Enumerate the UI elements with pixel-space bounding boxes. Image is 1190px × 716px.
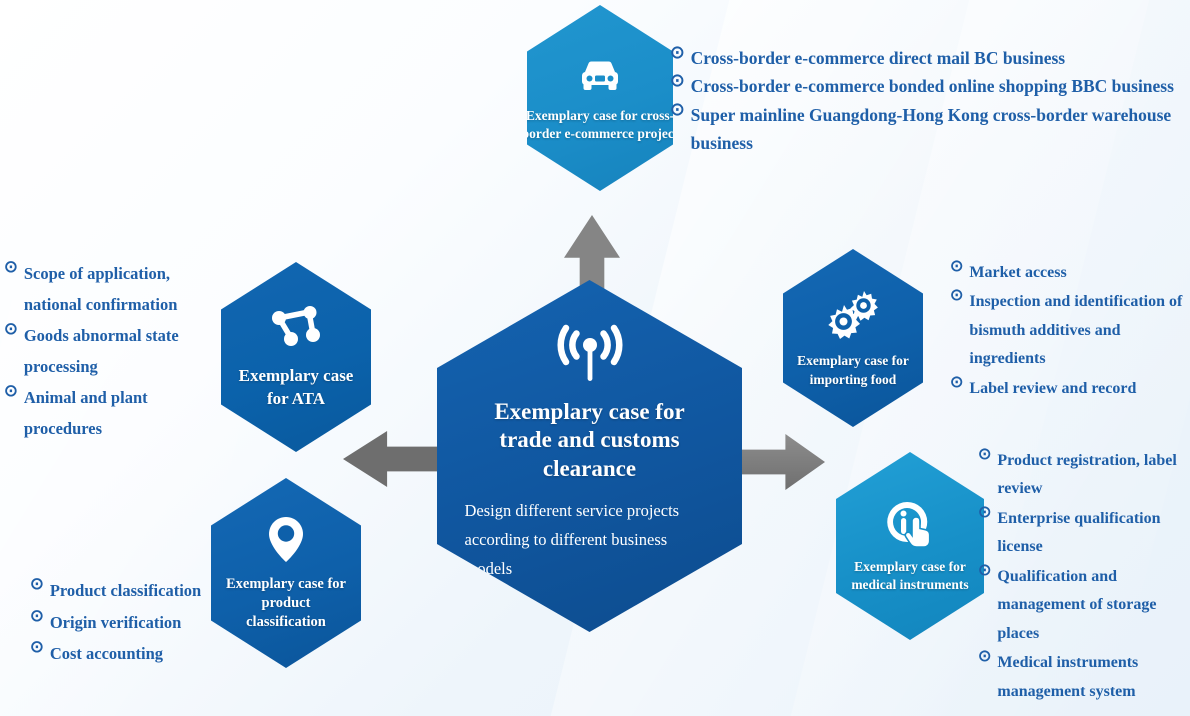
bullet-marker-icon: ⊙ (30, 576, 44, 593)
bullet-marker-icon: ⊙ (4, 259, 18, 276)
list-item: ⊙ Cross-border e-commerce direct mail BC… (670, 44, 1188, 72)
list-item: ⊙ Qualification and management of storag… (978, 563, 1190, 648)
list-item: ⊙ Origin verification (30, 608, 230, 639)
bullet-list-importing-food: ⊙ Market access ⊙ Inspection and identif… (950, 259, 1190, 404)
list-item-text: Market access (969, 259, 1190, 287)
list-item-text: Inspection and identification of bismuth… (969, 288, 1190, 373)
list-item: ⊙ Label review and record (950, 375, 1190, 403)
molecule-network-icon (269, 304, 323, 357)
list-item-text: Cross-border e-commerce bonded online sh… (691, 72, 1188, 100)
bullet-marker-icon: ⊙ (978, 649, 991, 665)
hexagon-importing-food[interactable]: Exemplary case for importing food (783, 249, 923, 427)
ata-label: Exemplary case for ATA (239, 365, 354, 411)
center-subtitle: Design different service projects accord… (465, 497, 715, 584)
list-item: ⊙ Cost accounting (30, 639, 230, 670)
hexagon-product-classification[interactable]: Exemplary case for product classificatio… (211, 478, 361, 668)
list-item-text: Origin verification (50, 608, 230, 639)
gears-icon (824, 287, 882, 346)
list-item: ⊙ Product classification (30, 576, 230, 607)
map-pin-icon (265, 514, 307, 569)
hexagon-cross-border-ecommerce[interactable]: Exemplary case for cross-border e-commer… (527, 5, 673, 191)
bullet-list-product-classification: ⊙ Product classification ⊙ Origin verifi… (30, 576, 230, 671)
list-item: ⊙ Medical instruments management system (978, 649, 1190, 706)
list-item-text: Animal and plant procedures (24, 383, 229, 444)
hexagon-ata[interactable]: Exemplary case for ATA (221, 262, 371, 452)
list-item: ⊙ Super mainline Guangdong-Hong Kong cro… (670, 101, 1188, 158)
list-item-text: Medical instruments management system (997, 649, 1190, 706)
list-item: ⊙ Cross-border e-commerce bonded online … (670, 72, 1188, 100)
list-item-text: Product classification (50, 576, 230, 607)
medical-instruments-label: Exemplary case for medical instruments (847, 558, 973, 594)
list-item: ⊙ Goods abnormal state processing (4, 321, 229, 382)
list-item-text: Product registration, label review (997, 447, 1190, 504)
bullet-marker-icon: ⊙ (950, 288, 963, 304)
list-item: ⊙ Enterprise qualification license (978, 505, 1190, 562)
product-classification-label: Exemplary case for product classificatio… (222, 575, 350, 632)
list-item: ⊙ Market access (950, 259, 1190, 287)
list-item-text: Enterprise qualification license (997, 505, 1190, 562)
center-title: Exemplary case for trade and customs cle… (467, 398, 712, 484)
bullet-marker-icon: ⊙ (978, 447, 991, 463)
list-item-text: Label review and record (969, 375, 1190, 403)
bullet-marker-icon: ⊙ (950, 259, 963, 275)
bullet-marker-icon: ⊙ (30, 639, 44, 656)
hexagon-medical-instruments[interactable]: Exemplary case for medical instruments (836, 452, 984, 640)
list-item: ⊙ Animal and plant procedures (4, 383, 229, 444)
bullet-list-medical-instruments: ⊙ Product registration, label review ⊙ E… (978, 447, 1190, 707)
list-item-text: Cost accounting (50, 639, 230, 670)
hexagon-center-trade-customs-clearance[interactable]: Exemplary case for trade and customs cle… (437, 280, 742, 632)
ecommerce-label: Exemplary case for cross-border e-commer… (520, 107, 680, 142)
list-item-text: Scope of application, national confirmat… (24, 259, 229, 320)
arrow-left-icon (343, 431, 441, 487)
info-hand-icon (883, 499, 937, 554)
bullet-marker-icon: ⊙ (670, 101, 685, 119)
bullet-marker-icon: ⊙ (978, 505, 991, 521)
bullet-marker-icon: ⊙ (950, 375, 963, 391)
list-item-text: Cross-border e-commerce direct mail BC b… (691, 44, 1188, 72)
list-item: ⊙ Product registration, label review (978, 447, 1190, 504)
arrow-right-icon (737, 434, 825, 490)
bullet-marker-icon: ⊙ (978, 563, 991, 579)
bullet-marker-icon: ⊙ (30, 608, 44, 625)
broadcast-signal-icon (553, 323, 627, 392)
list-item: ⊙ Inspection and identification of bismu… (950, 288, 1190, 373)
list-item-text: Super mainline Guangdong-Hong Kong cross… (691, 101, 1188, 158)
bullet-marker-icon: ⊙ (670, 44, 685, 62)
bullet-marker-icon: ⊙ (4, 321, 18, 338)
bullet-marker-icon: ⊙ (4, 383, 18, 400)
bullet-marker-icon: ⊙ (670, 72, 685, 90)
bullet-list-ecommerce: ⊙ Cross-border e-commerce direct mail BC… (670, 44, 1188, 157)
list-item: ⊙ Scope of application, national confirm… (4, 259, 229, 320)
list-item-text: Goods abnormal state processing (24, 321, 229, 382)
list-item-text: Qualification and management of storage … (997, 563, 1190, 648)
importing-food-label: Exemplary case for importing food (794, 352, 912, 388)
bullet-list-ata: ⊙ Scope of application, national confirm… (4, 259, 229, 445)
car-icon (578, 58, 622, 99)
